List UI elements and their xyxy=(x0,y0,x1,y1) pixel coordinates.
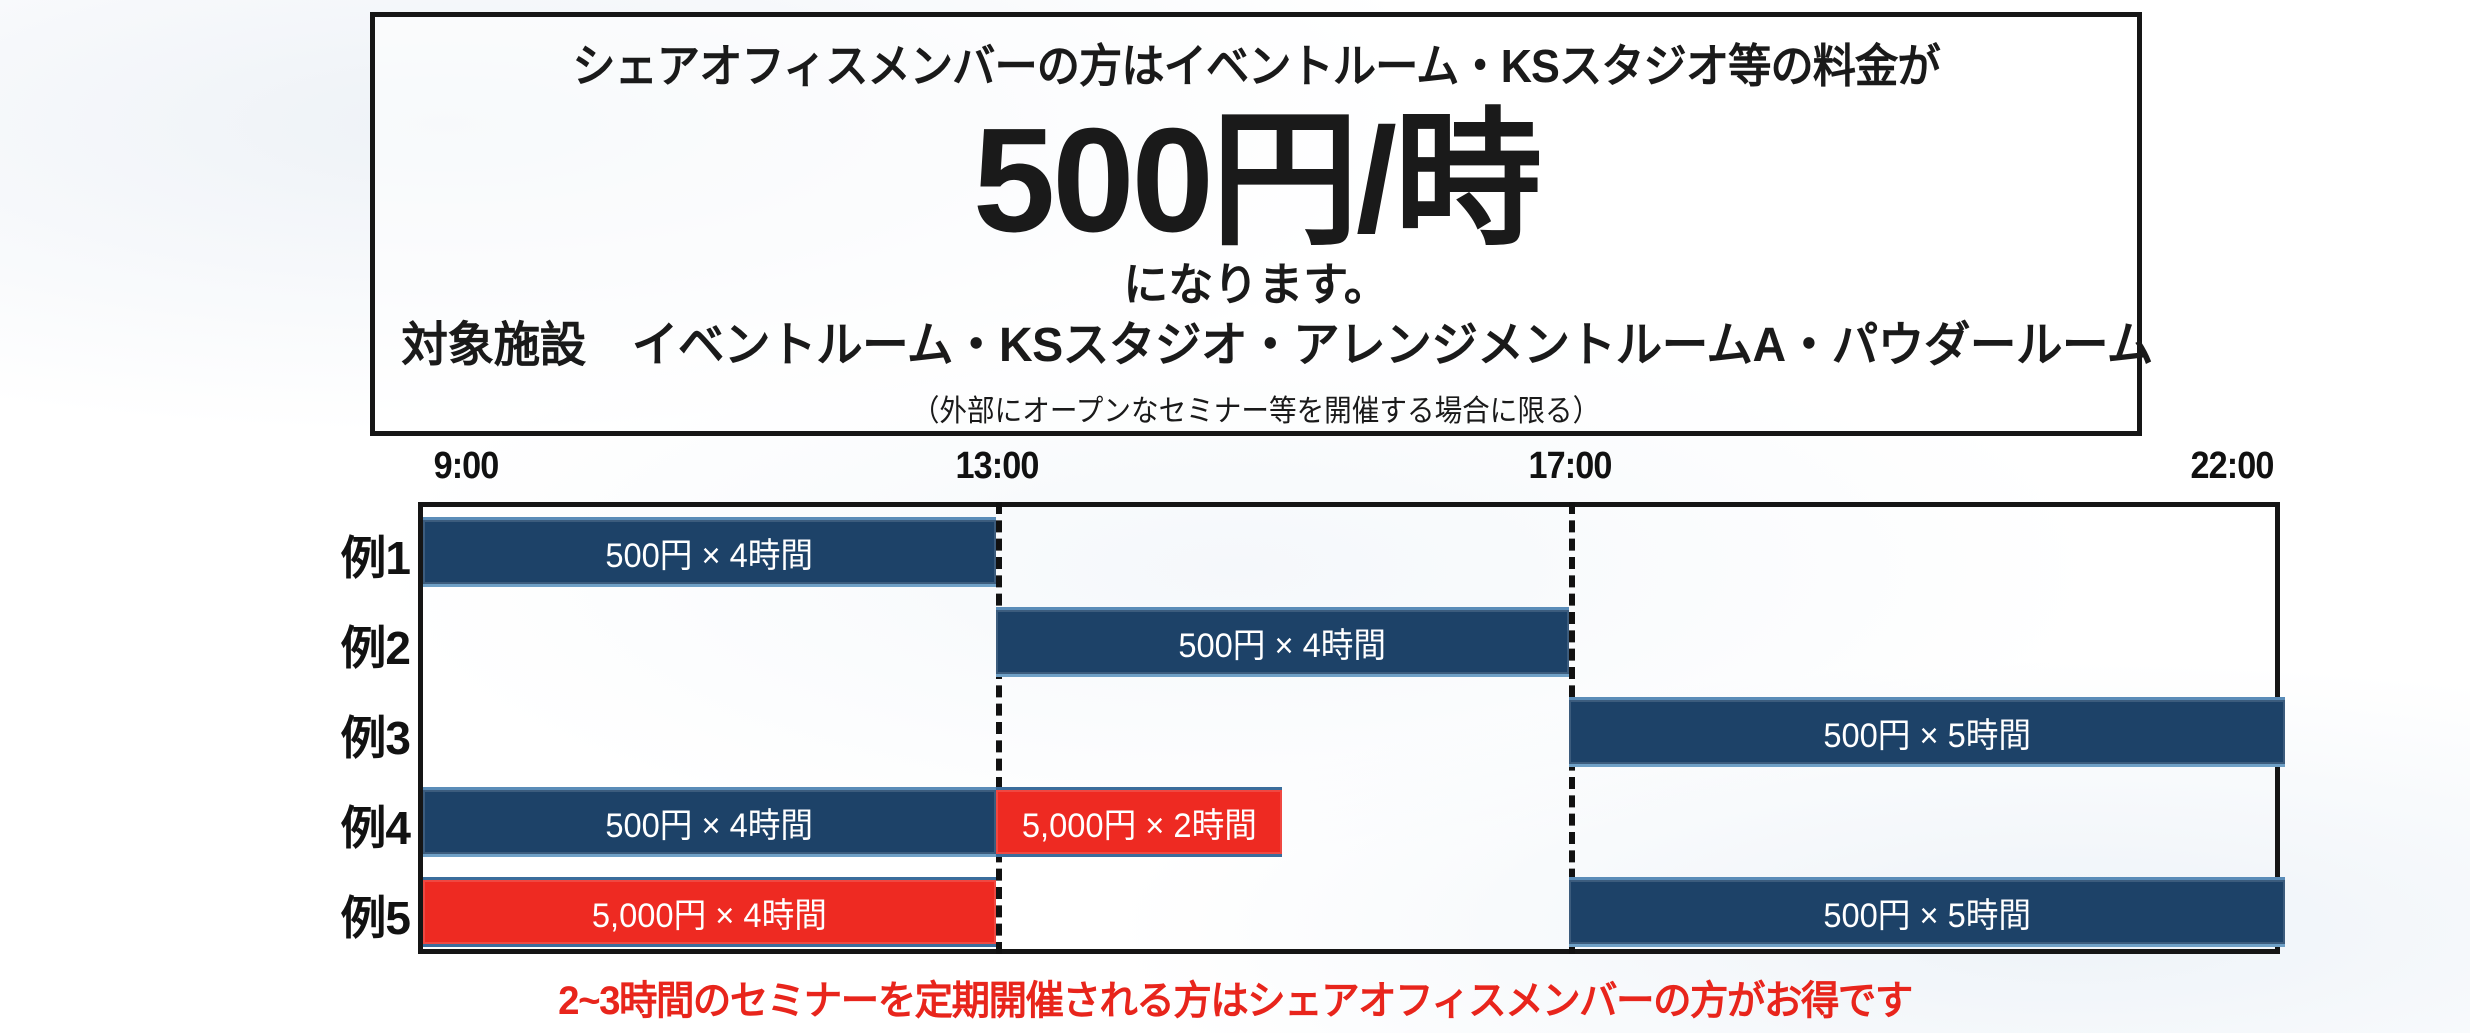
axis-tick-1700: 17:00 xyxy=(1471,445,1669,488)
timeline-bar-label: 500円 × 4時間 xyxy=(1179,618,1387,667)
timeline-row: 500円 × 5時間 xyxy=(423,687,2275,777)
timeline-bar-label: 500円 × 5時間 xyxy=(1823,888,2031,937)
timeline-bar-label: 500円 × 4時間 xyxy=(606,798,814,847)
footer-callout: 2~3時間のセミナーを定期開催される方はシェアオフィスメンバーの方がお得です xyxy=(49,968,2420,1026)
timeline-row: 500円 × 4時間 xyxy=(423,597,2275,687)
timeline-bar-red: 5,000円 × 2時間 xyxy=(996,787,1282,857)
timeline-bar-blue: 500円 × 4時間 xyxy=(423,517,996,587)
timeline-bar-label: 500円 × 4時間 xyxy=(606,528,814,577)
timeline-chart: 500円 × 4時間500円 × 4時間500円 × 5時間500円 × 4時間… xyxy=(418,502,2280,954)
notice-price: 500円/時 xyxy=(375,107,2137,255)
notice-headline: シェアオフィスメンバーの方はイベントルーム・KSスタジオ等の料金が xyxy=(428,43,2084,89)
timeline-bar-red: 5,000円 × 4時間 xyxy=(423,877,996,947)
row-label-例3: 例3 xyxy=(250,702,410,768)
notice-target-facilities: 対象施設 イベントルーム・KSスタジオ・アレンジメントルームA・パウダールーム xyxy=(401,322,2110,370)
timeline-bar-blue: 500円 × 4時間 xyxy=(996,607,1569,677)
promotion-notice-box: シェアオフィスメンバーの方はイベントルーム・KSスタジオ等の料金が 500円/時… xyxy=(370,12,2142,436)
time-axis: 9:0013:0017:0022:00 xyxy=(0,445,2470,493)
notice-subline: になります。 xyxy=(375,262,2137,307)
timeline-bar-blue: 500円 × 4時間 xyxy=(423,787,996,857)
axis-tick-2200: 22:00 xyxy=(2133,445,2331,488)
timeline-row: 500円 × 4時間 xyxy=(423,507,2275,597)
timeline-bar-label: 5,000円 × 4時間 xyxy=(592,888,827,937)
row-label-例2: 例2 xyxy=(250,612,410,678)
timeline-row: 5,000円 × 4時間500円 × 5時間 xyxy=(423,867,2275,957)
row-label-例5: 例5 xyxy=(250,882,410,948)
timeline-bar-blue: 500円 × 5時間 xyxy=(1569,877,2285,947)
axis-tick-900: 9:00 xyxy=(367,445,565,488)
timeline-bar-blue: 500円 × 5時間 xyxy=(1569,697,2285,767)
row-label-例1: 例1 xyxy=(250,522,410,588)
axis-tick-1300: 13:00 xyxy=(898,445,1096,488)
notice-condition-note: （外部にオープンなセミナー等を開催する場合に限る） xyxy=(445,397,2066,427)
row-label-例4: 例4 xyxy=(250,792,410,858)
timeline-row: 500円 × 4時間5,000円 × 2時間 xyxy=(423,777,2275,867)
timeline-bar-label: 500円 × 5時間 xyxy=(1823,708,2031,757)
timeline-bar-label: 5,000円 × 2時間 xyxy=(1022,798,1257,847)
timeline-plot-area: 500円 × 4時間500円 × 4時間500円 × 5時間500円 × 4時間… xyxy=(423,507,2275,949)
